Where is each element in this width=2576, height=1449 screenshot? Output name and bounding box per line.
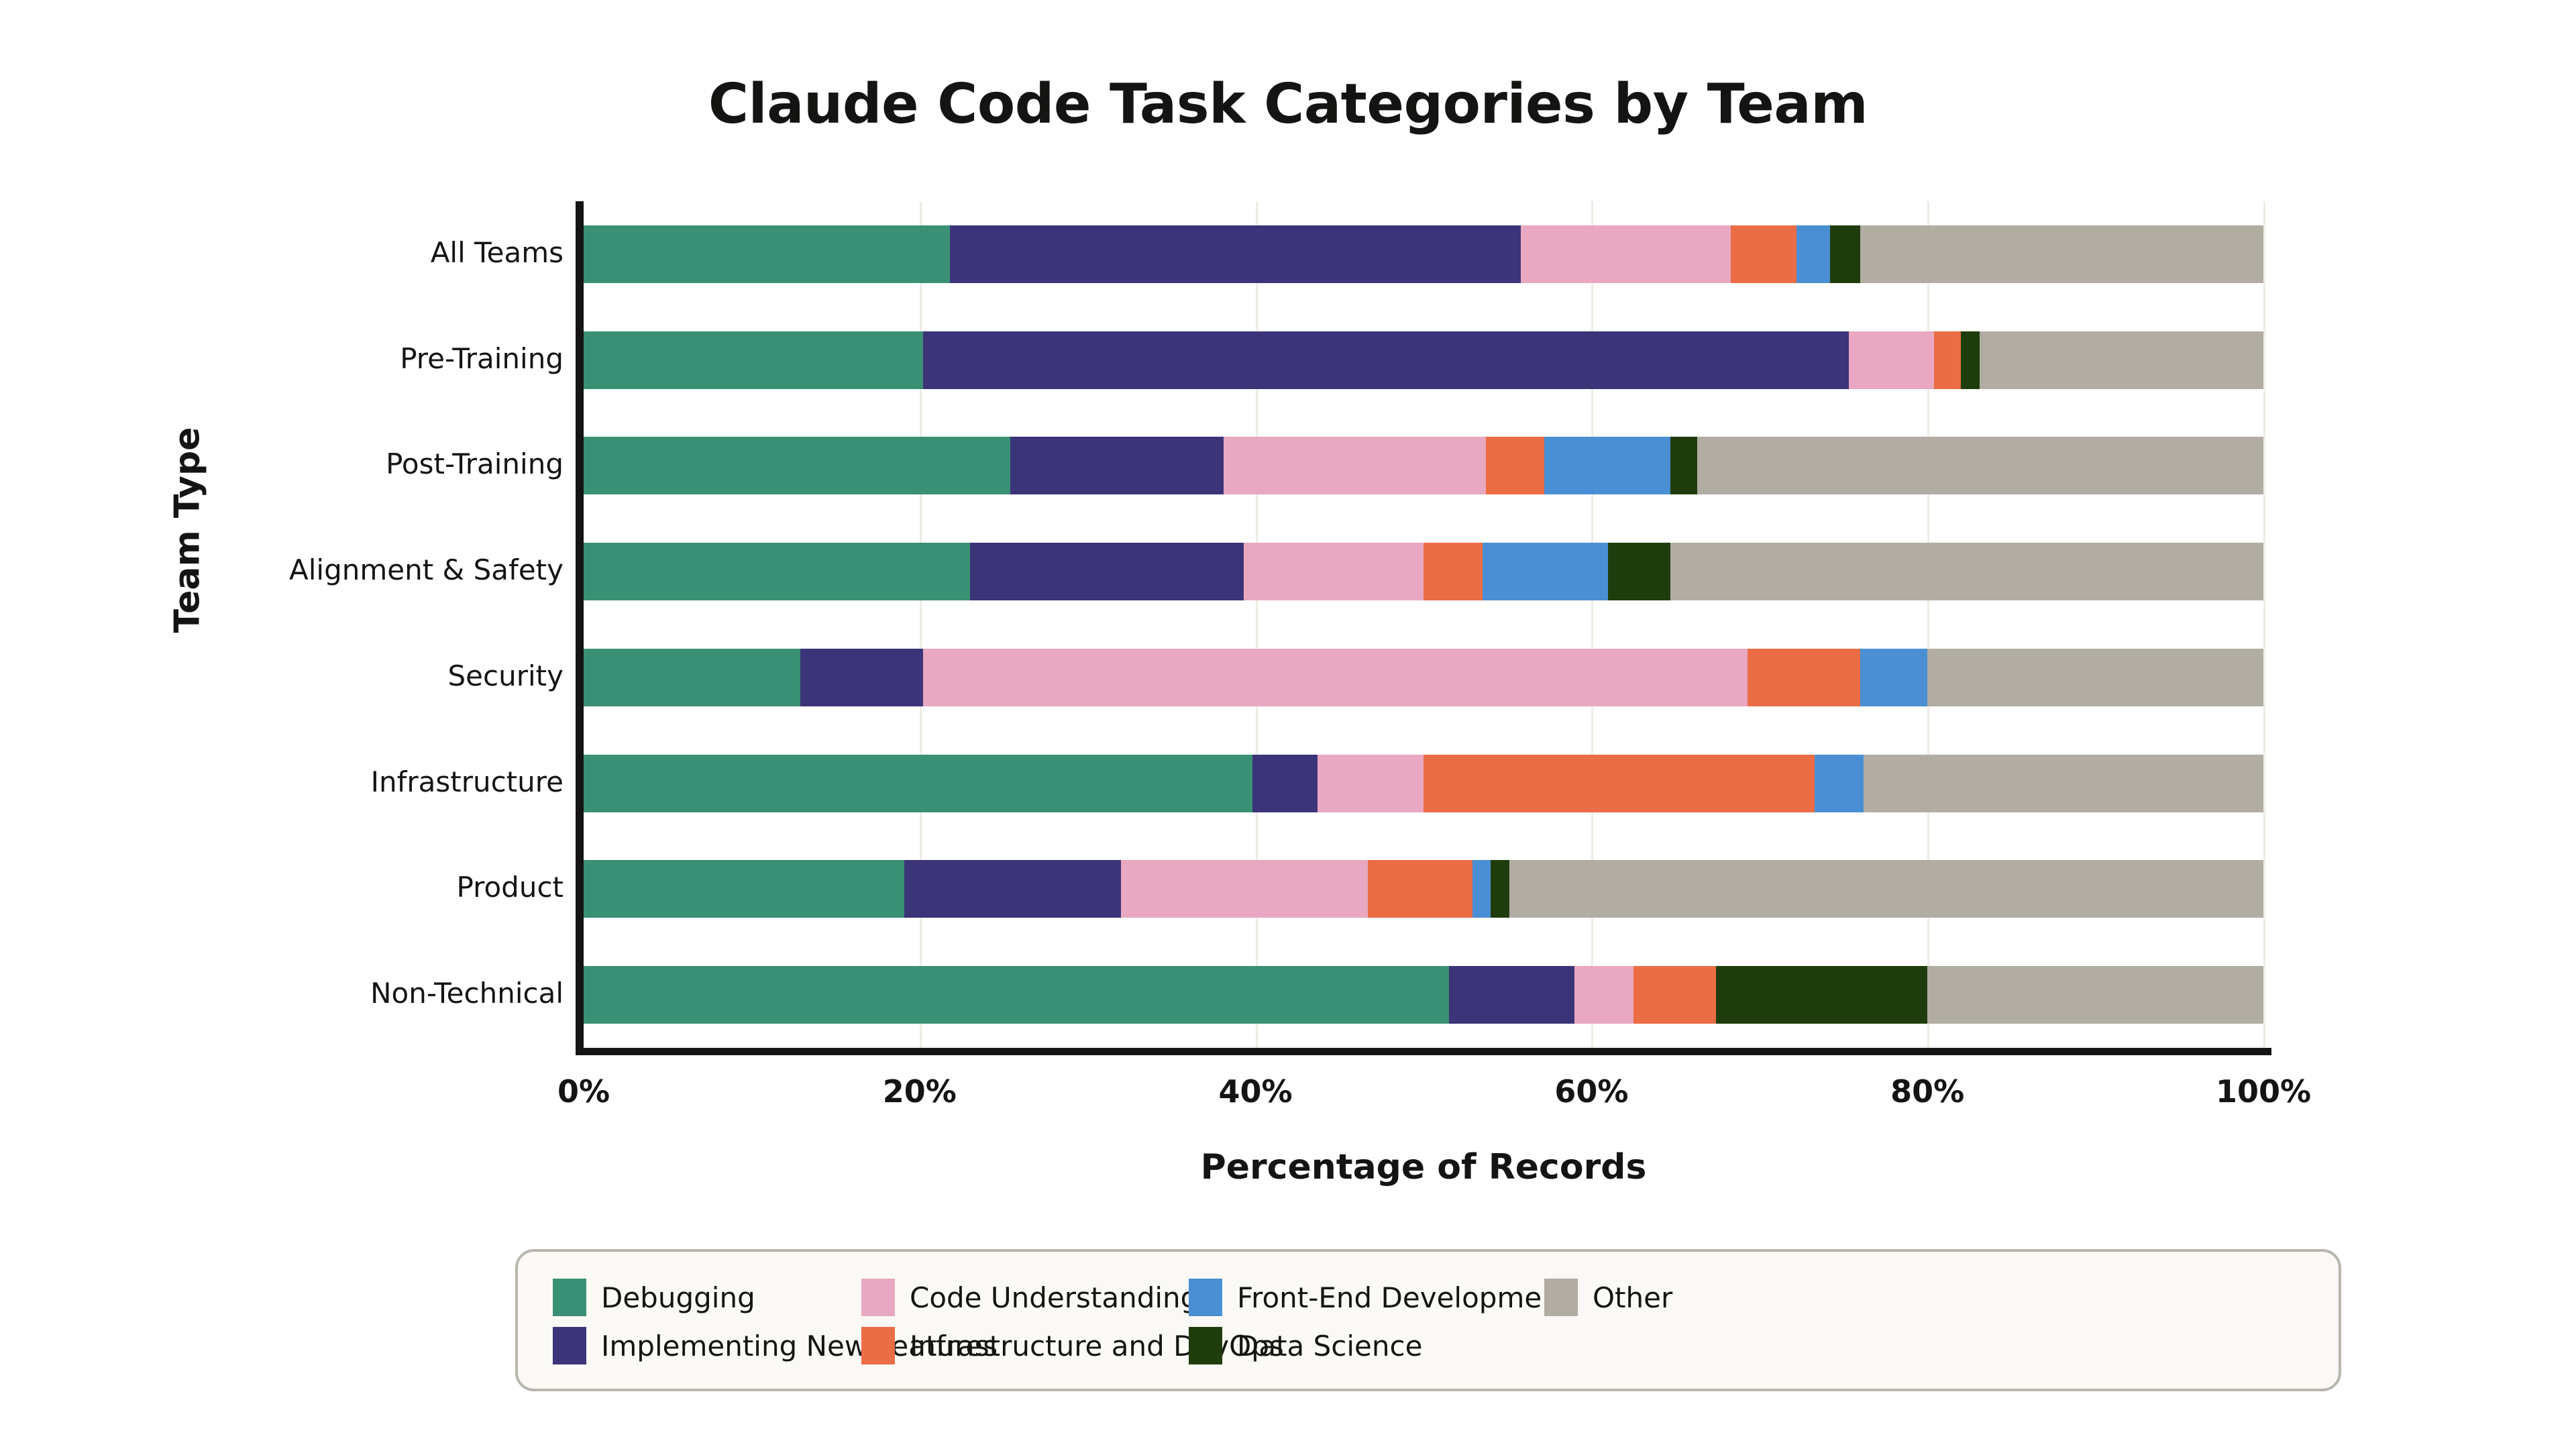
bar-segment[interactable] (584, 543, 970, 600)
bar-segment[interactable] (1697, 437, 2263, 494)
bar-segment[interactable] (1486, 437, 1545, 494)
bar-segment[interactable] (1633, 966, 1716, 1024)
bar-segment[interactable] (1670, 543, 2263, 600)
y-axis-line (576, 201, 584, 1052)
x-tick-label: 80% (1840, 1073, 2015, 1110)
bar-row[interactable] (584, 966, 2263, 1024)
bar-segment[interactable] (970, 543, 1244, 600)
bar-segment[interactable] (1544, 437, 1670, 494)
chart-root: Claude Code Task Categories by Team Team… (0, 0, 2576, 1449)
y-tick-label: All Teams (27, 236, 563, 269)
bar-segment[interactable] (1121, 860, 1368, 918)
y-tick-label: Infrastructure (27, 765, 563, 798)
bar-segment[interactable] (1830, 225, 1860, 283)
bar-segment[interactable] (1961, 331, 1980, 389)
bar-segment[interactable] (584, 966, 1449, 1024)
legend-swatch-icon (1189, 1279, 1222, 1316)
bar-segment[interactable] (584, 225, 950, 283)
gridline (1256, 201, 1258, 1048)
x-axis-line (576, 1048, 2271, 1055)
y-tick-label: Pre-Training (27, 342, 563, 375)
gridline (1591, 201, 1593, 1048)
plot-area (584, 201, 2263, 1048)
bar-row[interactable] (584, 543, 2263, 600)
y-tick-label: Non-Technical (27, 977, 563, 1010)
bar-row[interactable] (584, 331, 2263, 389)
gridline (1927, 201, 1929, 1048)
bar-segment[interactable] (584, 649, 800, 706)
bar-segment[interactable] (1424, 543, 1483, 600)
y-tick-label: Post-Training (27, 447, 563, 480)
bar-row[interactable] (584, 860, 2263, 918)
bar-segment[interactable] (1483, 543, 1609, 600)
legend-label: Data Science (1237, 1330, 1422, 1362)
bar-segment[interactable] (1491, 860, 1509, 918)
bar-row[interactable] (584, 649, 2263, 706)
y-tick-label: Alignment & Safety (27, 553, 563, 586)
legend-column: Front-End DevelopmentData Science (1189, 1273, 1570, 1370)
bar-segment[interactable] (1980, 331, 2263, 389)
legend-swatch-icon (553, 1327, 586, 1364)
bar-segment[interactable] (1927, 649, 2263, 706)
legend-swatch-icon (1189, 1327, 1222, 1364)
bar-segment[interactable] (1449, 966, 1575, 1024)
legend-swatch-icon (553, 1279, 586, 1316)
bar-segment[interactable] (584, 437, 1010, 494)
bar-segment[interactable] (584, 860, 904, 918)
bar-segment[interactable] (584, 755, 1252, 812)
x-tick-label: 60% (1504, 1073, 1678, 1110)
bar-row[interactable] (584, 225, 2263, 283)
legend-entry[interactable]: Front-End Development (1189, 1273, 1570, 1322)
bar-segment[interactable] (1731, 225, 1796, 283)
legend-swatch-icon (1544, 1279, 1578, 1316)
bar-segment[interactable] (1574, 966, 1633, 1024)
y-tick-label: Product (27, 871, 563, 904)
bar-segment[interactable] (1927, 966, 2263, 1024)
bar-segment[interactable] (1670, 437, 1697, 494)
bar-segment[interactable] (1318, 755, 1424, 812)
bar-row[interactable] (584, 437, 2263, 494)
bar-segment[interactable] (1521, 225, 1731, 283)
legend-label: Code Understanding (910, 1281, 1198, 1314)
bar-row[interactable] (584, 755, 2263, 812)
bar-segment[interactable] (1224, 437, 1486, 494)
legend-entry[interactable]: Data Science (1189, 1322, 1570, 1370)
x-tick-label: 20% (833, 1073, 1007, 1110)
bar-segment[interactable] (1010, 437, 1224, 494)
bar-segment[interactable] (923, 331, 1849, 389)
bar-segment[interactable] (1509, 860, 2263, 918)
bar-segment[interactable] (1368, 860, 1472, 918)
bar-segment[interactable] (1748, 649, 1860, 706)
gridline (920, 201, 922, 1048)
bar-segment[interactable] (584, 331, 923, 389)
chart-title: Claude Code Task Categories by Team (0, 72, 2576, 136)
bar-segment[interactable] (1934, 331, 1961, 389)
bar-segment[interactable] (800, 649, 923, 706)
bar-segment[interactable] (1716, 966, 1928, 1024)
bar-segment[interactable] (1860, 225, 2263, 283)
legend-label: Front-End Development (1237, 1281, 1570, 1314)
legend-swatch-icon (861, 1279, 895, 1316)
legend-swatch-icon (861, 1327, 895, 1364)
x-tick-label: 100% (2176, 1073, 2351, 1110)
bar-segment[interactable] (1796, 225, 1830, 283)
gridline (2263, 201, 2265, 1048)
bar-segment[interactable] (1608, 543, 1670, 600)
legend-entry[interactable]: Other (1544, 1273, 1672, 1322)
bar-segment[interactable] (1864, 755, 2263, 812)
x-tick-label: 0% (496, 1073, 671, 1110)
x-axis-title: Percentage of Records (584, 1147, 2263, 1187)
bar-segment[interactable] (923, 649, 1748, 706)
legend-label: Debugging (601, 1281, 755, 1314)
bar-segment[interactable] (1860, 649, 1927, 706)
bar-segment[interactable] (904, 860, 1121, 918)
y-tick-label: Security (27, 659, 563, 692)
bar-segment[interactable] (1244, 543, 1424, 600)
legend-column: Other (1544, 1273, 1672, 1322)
bar-segment[interactable] (1849, 331, 1935, 389)
bar-segment[interactable] (1424, 755, 1815, 812)
bar-segment[interactable] (1472, 860, 1491, 918)
bar-segment[interactable] (1252, 755, 1318, 812)
legend-label: Other (1593, 1281, 1672, 1314)
bar-segment[interactable] (950, 225, 1521, 283)
bar-segment[interactable] (1815, 755, 1864, 812)
x-tick-label: 40% (1169, 1073, 1343, 1110)
chart-legend: DebuggingImplementing New FeaturesCode U… (515, 1249, 2341, 1391)
